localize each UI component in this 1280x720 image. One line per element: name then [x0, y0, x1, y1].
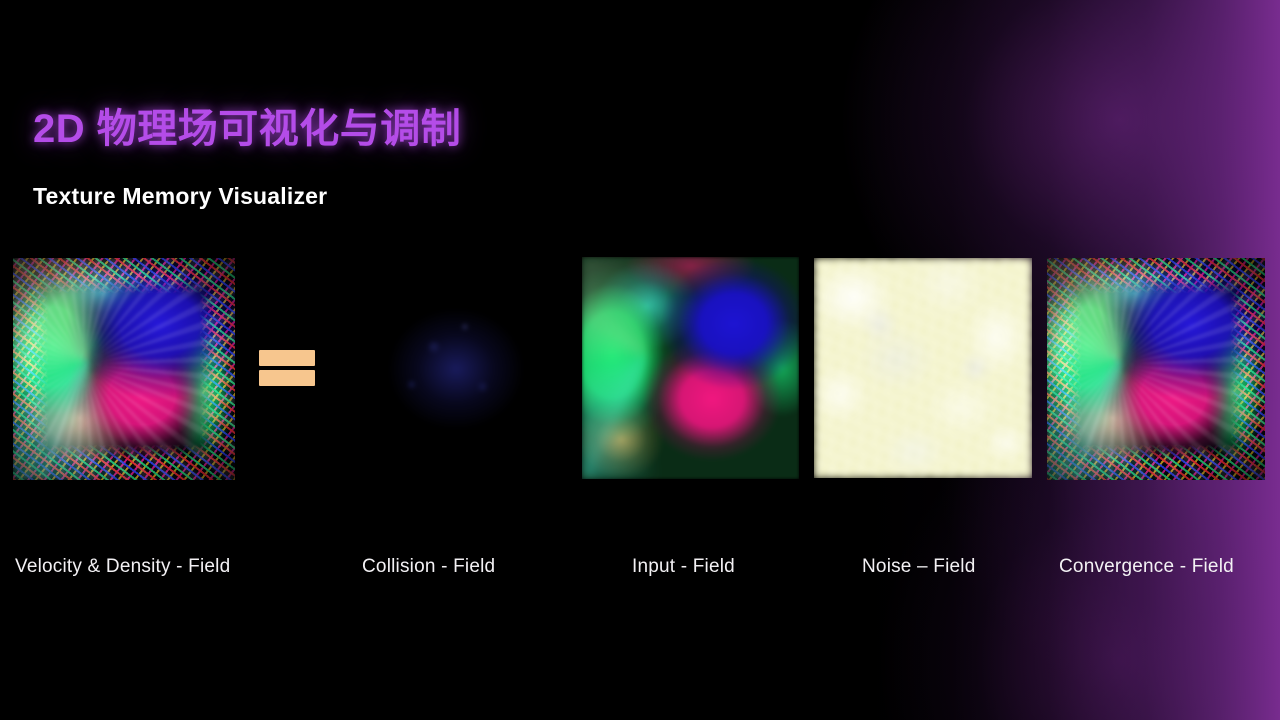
- field-panel-collision[interactable]: [345, 258, 567, 480]
- caption-velocity-density: Velocity & Density - Field: [15, 556, 230, 578]
- slide-canvas: 2D 物理场可视化与调制 Texture Memory Visualizer: [0, 0, 1280, 720]
- field-panel-velocity-density[interactable]: [13, 258, 235, 480]
- caption-input: Input - Field: [632, 556, 735, 578]
- field-panel-input[interactable]: [582, 257, 799, 479]
- input-texture: [582, 257, 799, 479]
- equals-bar-top: [259, 350, 315, 366]
- velocity-density-texture: [13, 258, 235, 480]
- caption-collision: Collision - Field: [362, 556, 495, 578]
- slide-subtitle: Texture Memory Visualizer: [33, 183, 327, 210]
- convergence-texture: [1047, 258, 1265, 480]
- equals-sign-icon: [259, 350, 315, 386]
- caption-convergence: Convergence - Field: [1059, 556, 1234, 578]
- equals-bar-bottom: [259, 370, 315, 386]
- noise-texture: [814, 258, 1032, 478]
- field-panel-convergence[interactable]: [1047, 258, 1265, 480]
- caption-noise: Noise – Field: [862, 556, 975, 578]
- field-panel-noise[interactable]: [814, 258, 1032, 478]
- collision-texture: [345, 258, 567, 480]
- slide-title: 2D 物理场可视化与调制: [33, 96, 461, 154]
